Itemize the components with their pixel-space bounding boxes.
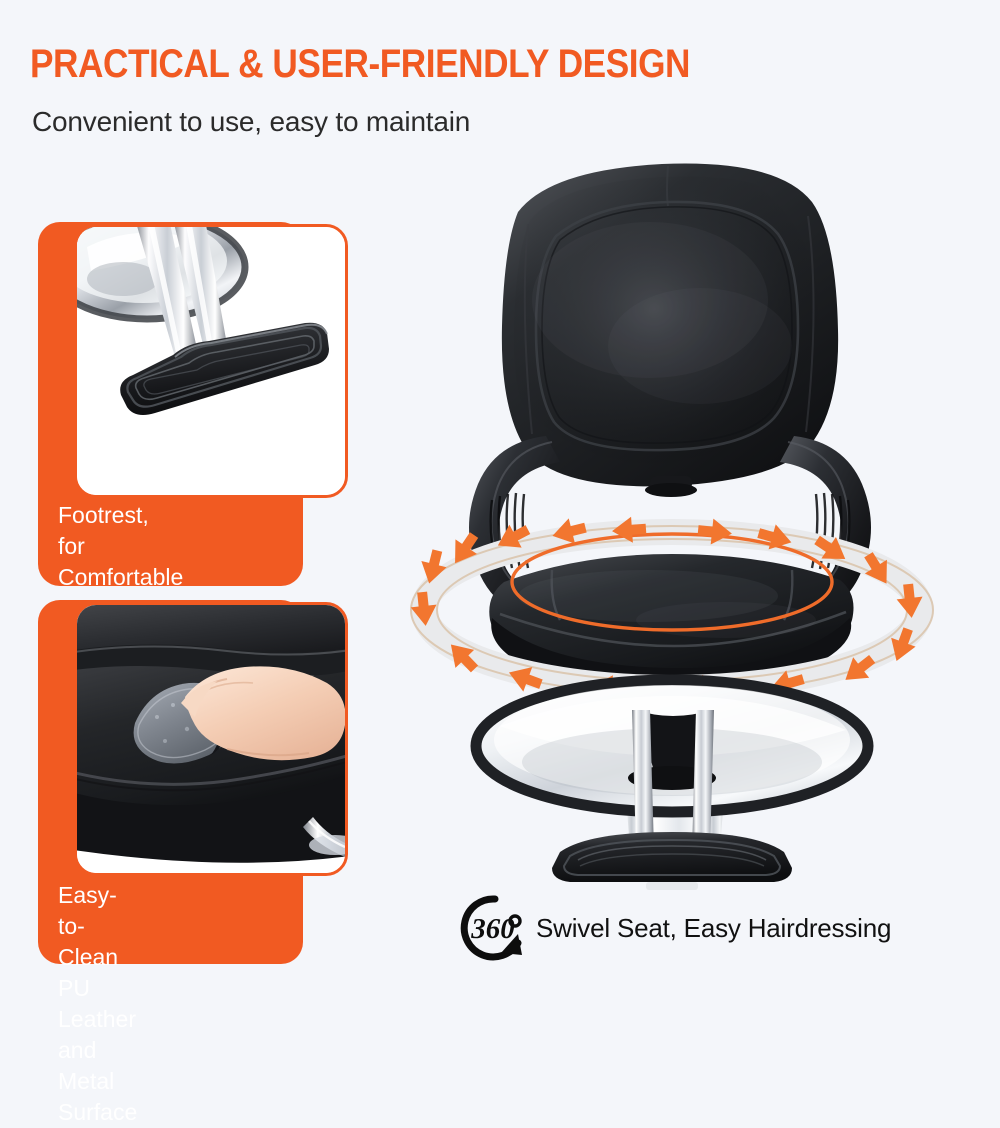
feature-photo-footrest bbox=[74, 224, 348, 498]
cleaning-illustration bbox=[77, 605, 345, 873]
cleaning-photo-scene bbox=[77, 605, 345, 873]
chair-backrest bbox=[502, 163, 838, 486]
badge-degrees-text: 360 bbox=[470, 913, 515, 945]
page-title: PRACTICAL & USER-FRIENDLY DESIGN bbox=[30, 42, 690, 87]
product-image bbox=[400, 150, 960, 890]
swivel-badge-label: Swivel Seat, Easy Hairdressing bbox=[536, 913, 891, 944]
footrest-photo-scene bbox=[77, 227, 345, 495]
salon-chair-illustration bbox=[400, 150, 960, 890]
footrest-illustration bbox=[77, 227, 345, 495]
backrest-hinge bbox=[645, 476, 697, 497]
circular-arrow-icon: 360 bbox=[460, 893, 530, 963]
foot-pedal-plate bbox=[552, 832, 792, 890]
page-subtitle: Convenient to use, easy to maintain bbox=[32, 106, 470, 138]
feature-photo-easy-clean bbox=[74, 602, 348, 876]
feature-caption-easy-clean: Easy-to-Clean PU Leather and Metal Surfa… bbox=[58, 880, 137, 1128]
infographic-canvas: PRACTICAL & USER-FRIENDLY DESIGN Conveni… bbox=[0, 0, 1000, 1000]
swivel-badge: 360 Swivel Seat, Easy Hairdressing bbox=[460, 893, 891, 963]
degree-symbol-icon bbox=[510, 916, 520, 926]
